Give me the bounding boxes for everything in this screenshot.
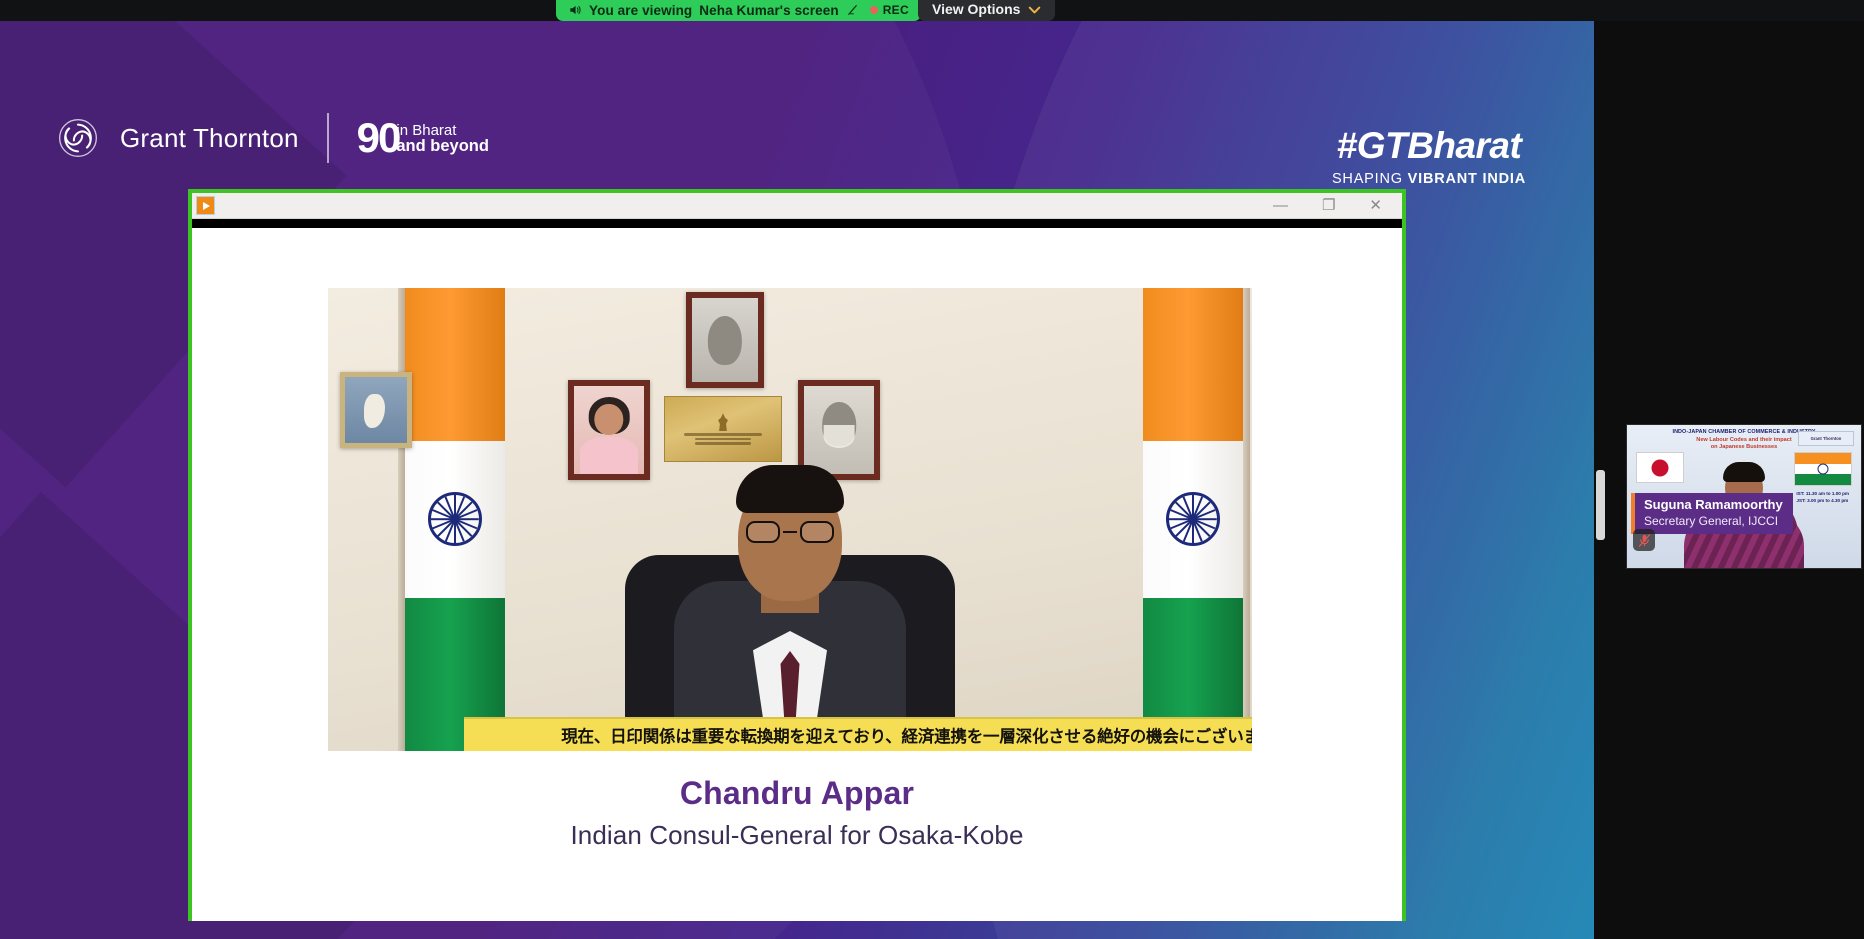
thumbnail-sponsor-logo: Grant Thornton: [1798, 431, 1854, 446]
zoom-top-bar: You are viewing Neha Kumar's screen REC …: [0, 0, 1864, 21]
anniversary-line1: in Bharat: [396, 123, 489, 138]
panel-resize-handle[interactable]: [1596, 470, 1605, 540]
participant-thumbnail[interactable]: INDO-JAPAN CHAMBER OF COMMERCE & INDUSTR…: [1626, 424, 1862, 569]
company-name-label: Grant Thornton: [120, 123, 299, 154]
tagline-light: SHAPING: [1332, 171, 1408, 187]
participant-role: Secretary General, IJCCI: [1644, 514, 1783, 529]
chevron-down-icon: [1028, 6, 1041, 14]
close-button[interactable]: ✕: [1369, 198, 1382, 213]
thumbnail-time-ist: IST: 11.30 am to 1.00 pm: [1796, 491, 1849, 498]
window-black-strip: [192, 219, 1402, 228]
anniversary-number: 90: [357, 117, 400, 159]
anniversary-lockup: 90 in Bharat and beyond: [357, 117, 489, 159]
tagline-bold: VIBRANT INDIA: [1408, 171, 1526, 187]
thumbnail-sponsor-label: Grant Thornton: [1811, 436, 1842, 441]
brand-divider: [327, 113, 329, 163]
speaker-video-feed: 現在、日印関係は重要な転換期を迎えており、経済連携を一層深化させる絶好の機会にご…: [328, 288, 1252, 751]
minimize-button[interactable]: —: [1273, 198, 1288, 213]
thumbnail-session-times: IST: 11.30 am to 1.00 pm JST: 3.00 pm to…: [1796, 491, 1849, 505]
media-player-icon: [196, 196, 215, 215]
participant-name-badge: Suguna Ramamoorthy Secretary General, IJ…: [1631, 493, 1793, 534]
speaker-role: Indian Consul-General for Osaka-Kobe: [192, 820, 1402, 851]
maximize-button[interactable]: ❐: [1322, 198, 1335, 213]
view-options-label: View Options: [932, 1, 1020, 17]
japanese-subtitle-text: 現在、日印関係は重要な転換期を迎えており、経済連携を一層深化させる絶好の機会にご…: [561, 723, 1252, 747]
thumbnail-time-jst: JST: 3.00 pm to 4.30 pm: [1796, 498, 1849, 505]
screen-share-status-pill: You are viewing Neha Kumar's screen REC: [556, 0, 921, 21]
japan-flag-icon: [1636, 452, 1684, 483]
rec-label: REC: [883, 3, 909, 17]
viewing-prefix-label: You are viewing: [589, 3, 692, 18]
slide-caption: Chandru Appar Indian Consul-General for …: [192, 775, 1402, 851]
portrait-gandhi: [686, 292, 764, 388]
brand-header-left: Grant Thornton 90 in Bharat and beyond: [58, 113, 489, 163]
microphone-muted-icon[interactable]: [1633, 529, 1655, 551]
presenter-name-label: Neha Kumar's screen: [699, 3, 838, 18]
view-options-button[interactable]: View Options: [918, 0, 1055, 21]
ashoka-chakra-icon: [1166, 492, 1220, 546]
window-content: 現在、日印関係は重要な転換期を迎えており、経済連携を一層深化させる絶好の機会にご…: [192, 228, 1402, 921]
eyeglasses-icon: [746, 521, 834, 543]
speaker-person: [625, 451, 955, 751]
record-dot-icon: [870, 6, 878, 14]
recording-indicator: REC: [870, 3, 909, 17]
window-title-bar[interactable]: — ❐ ✕: [192, 193, 1402, 219]
ashoka-chakra-icon: [428, 492, 482, 546]
india-flag-left: [398, 288, 516, 751]
wall-frame-map: [340, 372, 412, 448]
grant-thornton-swirl-icon: [58, 118, 98, 158]
japanese-subtitle-bar: 現在、日印関係は重要な転換期を迎えており、経済連携を一層深化させる絶好の機会にご…: [464, 717, 1252, 751]
speaker-name: Chandru Appar: [192, 775, 1402, 812]
campaign-tagline: SHAPING VIBRANT INDIA: [1332, 171, 1526, 187]
speaker-icon: [568, 3, 582, 17]
shared-screen-region: Grant Thornton 90 in Bharat and beyond #…: [0, 21, 1594, 939]
participant-name: Suguna Ramamoorthy: [1644, 497, 1783, 513]
anniversary-line2: and beyond: [396, 138, 489, 155]
brand-header-right: #GTBharat SHAPING VIBRANT INDIA: [1332, 127, 1526, 187]
india-flag-icon: [1794, 452, 1852, 486]
campaign-hashtag: #GTBharat: [1332, 127, 1526, 164]
screen-share-icon: [846, 3, 859, 17]
india-flag-right: [1132, 288, 1250, 751]
shared-app-window: — ❐ ✕: [188, 189, 1406, 921]
